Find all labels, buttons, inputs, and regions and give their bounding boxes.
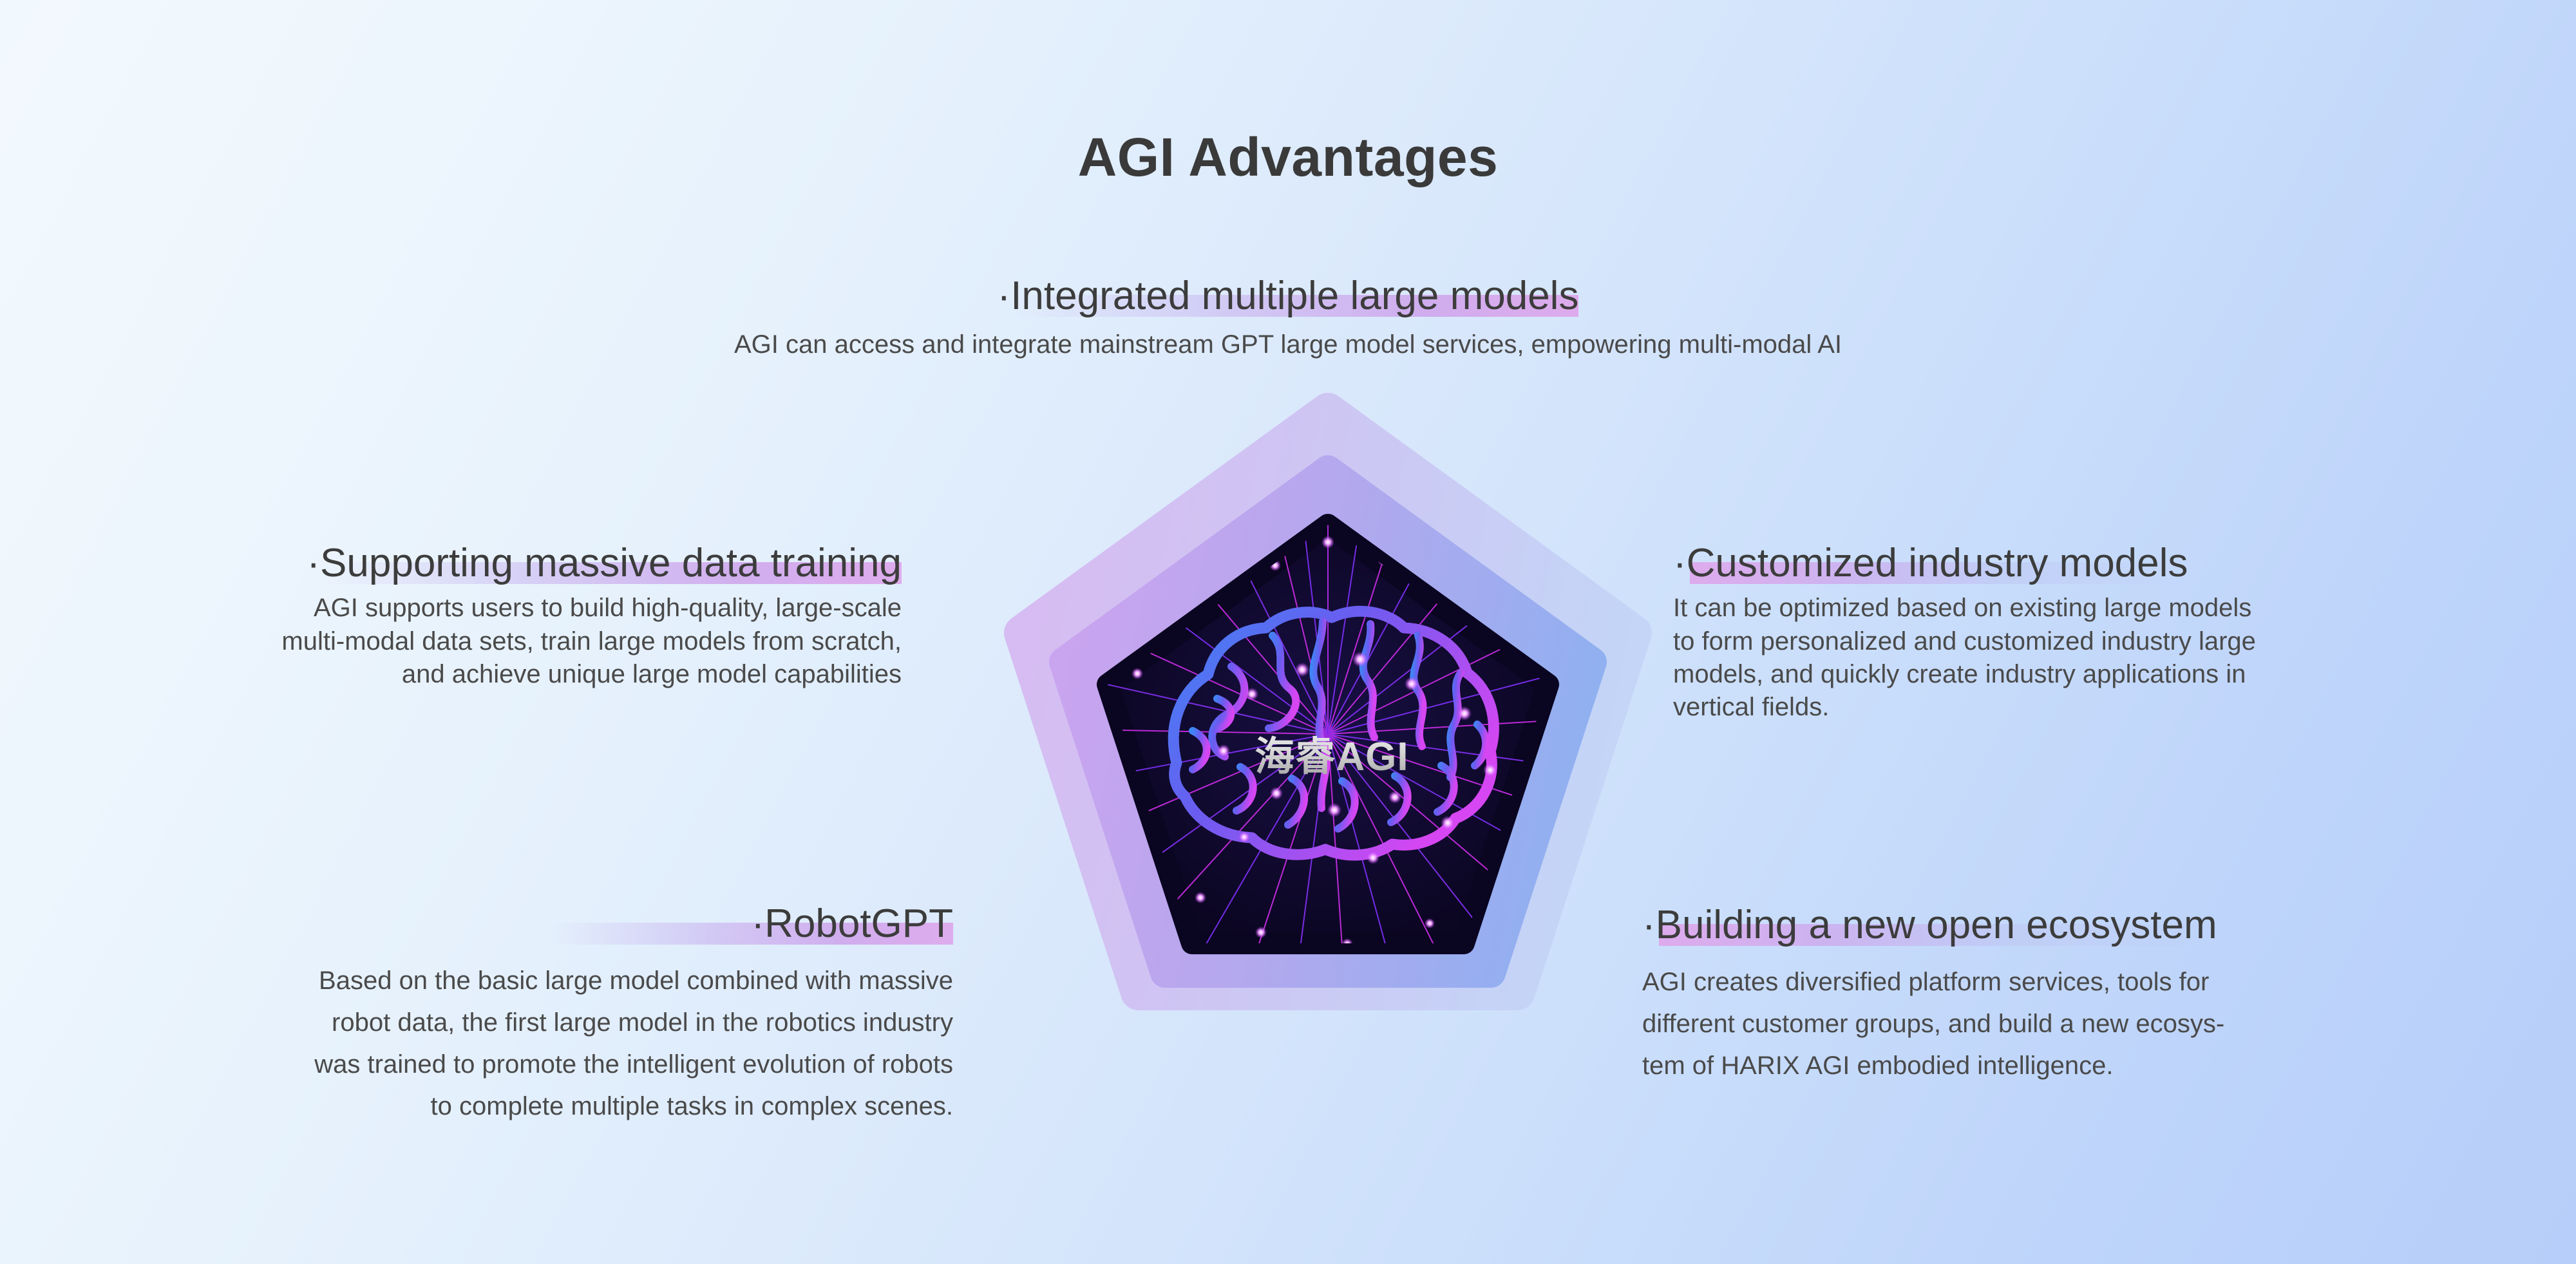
section-customized-industry-models: ·Customized industry models It can be op… [1673, 541, 2536, 724]
body-line: multi-modal data sets, train large model… [39, 625, 902, 658]
pentagon-brain-graphic: 海睿AGI [999, 393, 1656, 1108]
body-line: tem of HARIX AGI embodied intelligence. [1642, 1045, 2544, 1087]
body-line: different customer groups, and build a n… [1642, 1003, 2544, 1045]
body-open-ecosystem: AGI creates diversified platform service… [1642, 961, 2544, 1086]
body-line: Based on the basic large model combined … [39, 960, 953, 1002]
heading-integrated-models: ·Integrated multiple large models [998, 274, 1579, 318]
heading-text: Customized industry models [1687, 541, 2188, 585]
bullet-dot: · [307, 541, 320, 585]
heading-massive-data-training: ·Supporting massive data training [307, 541, 902, 585]
body-line: AGI creates diversified platform service… [1642, 961, 2544, 1003]
body-line: to complete multiple tasks in complex sc… [39, 1086, 953, 1127]
body-integrated-models: AGI can access and integrate mainstream … [0, 328, 2576, 361]
body-customized-industry-models: It can be optimized based on existing la… [1673, 592, 2536, 724]
body-line: robot data, the first large model in the… [39, 1002, 953, 1044]
body-line: and achieve unique large model capabilit… [39, 658, 902, 691]
heading-text: Integrated multiple large models [1010, 274, 1578, 318]
page-title: AGI Advantages [0, 126, 2576, 189]
heading-customized-industry-models: ·Customized industry models [1673, 541, 2188, 585]
body-line: vertical fields. [1673, 691, 2536, 724]
heading-open-ecosystem: ·Building a new open ecosystem [1642, 903, 2217, 947]
section-massive-data-training: ·Supporting massive data training AGI su… [39, 541, 902, 691]
heading-text: Building a new open ecosystem [1656, 903, 2217, 947]
bullet-dot: · [998, 274, 1011, 318]
body-line: It can be optimized based on existing la… [1673, 592, 2536, 625]
body-line: was trained to promote the intelligent e… [39, 1044, 953, 1086]
body-line: to form personalized and customized indu… [1673, 625, 2536, 658]
bullet-dot: · [1642, 903, 1656, 947]
heading-robotgpt: ·RobotGPT [751, 901, 953, 946]
heading-text: Supporting massive data training [320, 541, 902, 585]
section-open-ecosystem: ·Building a new open ecosystem AGI creat… [1642, 903, 2544, 1087]
body-line: models, and quickly create industry appl… [1673, 658, 2536, 691]
section-integrated-models: ·Integrated multiple large models AGI ca… [0, 274, 2576, 362]
body-robotgpt: Based on the basic large model combined … [39, 960, 953, 1127]
bullet-dot: · [1673, 541, 1687, 585]
body-massive-data-training: AGI supports users to build high-quality… [39, 592, 902, 691]
section-robotgpt: ·RobotGPT Based on the basic large model… [39, 901, 953, 1127]
body-line: AGI supports users to build high-quality… [39, 592, 902, 625]
heading-text: RobotGPT [764, 901, 953, 946]
bullet-dot: · [751, 901, 764, 946]
